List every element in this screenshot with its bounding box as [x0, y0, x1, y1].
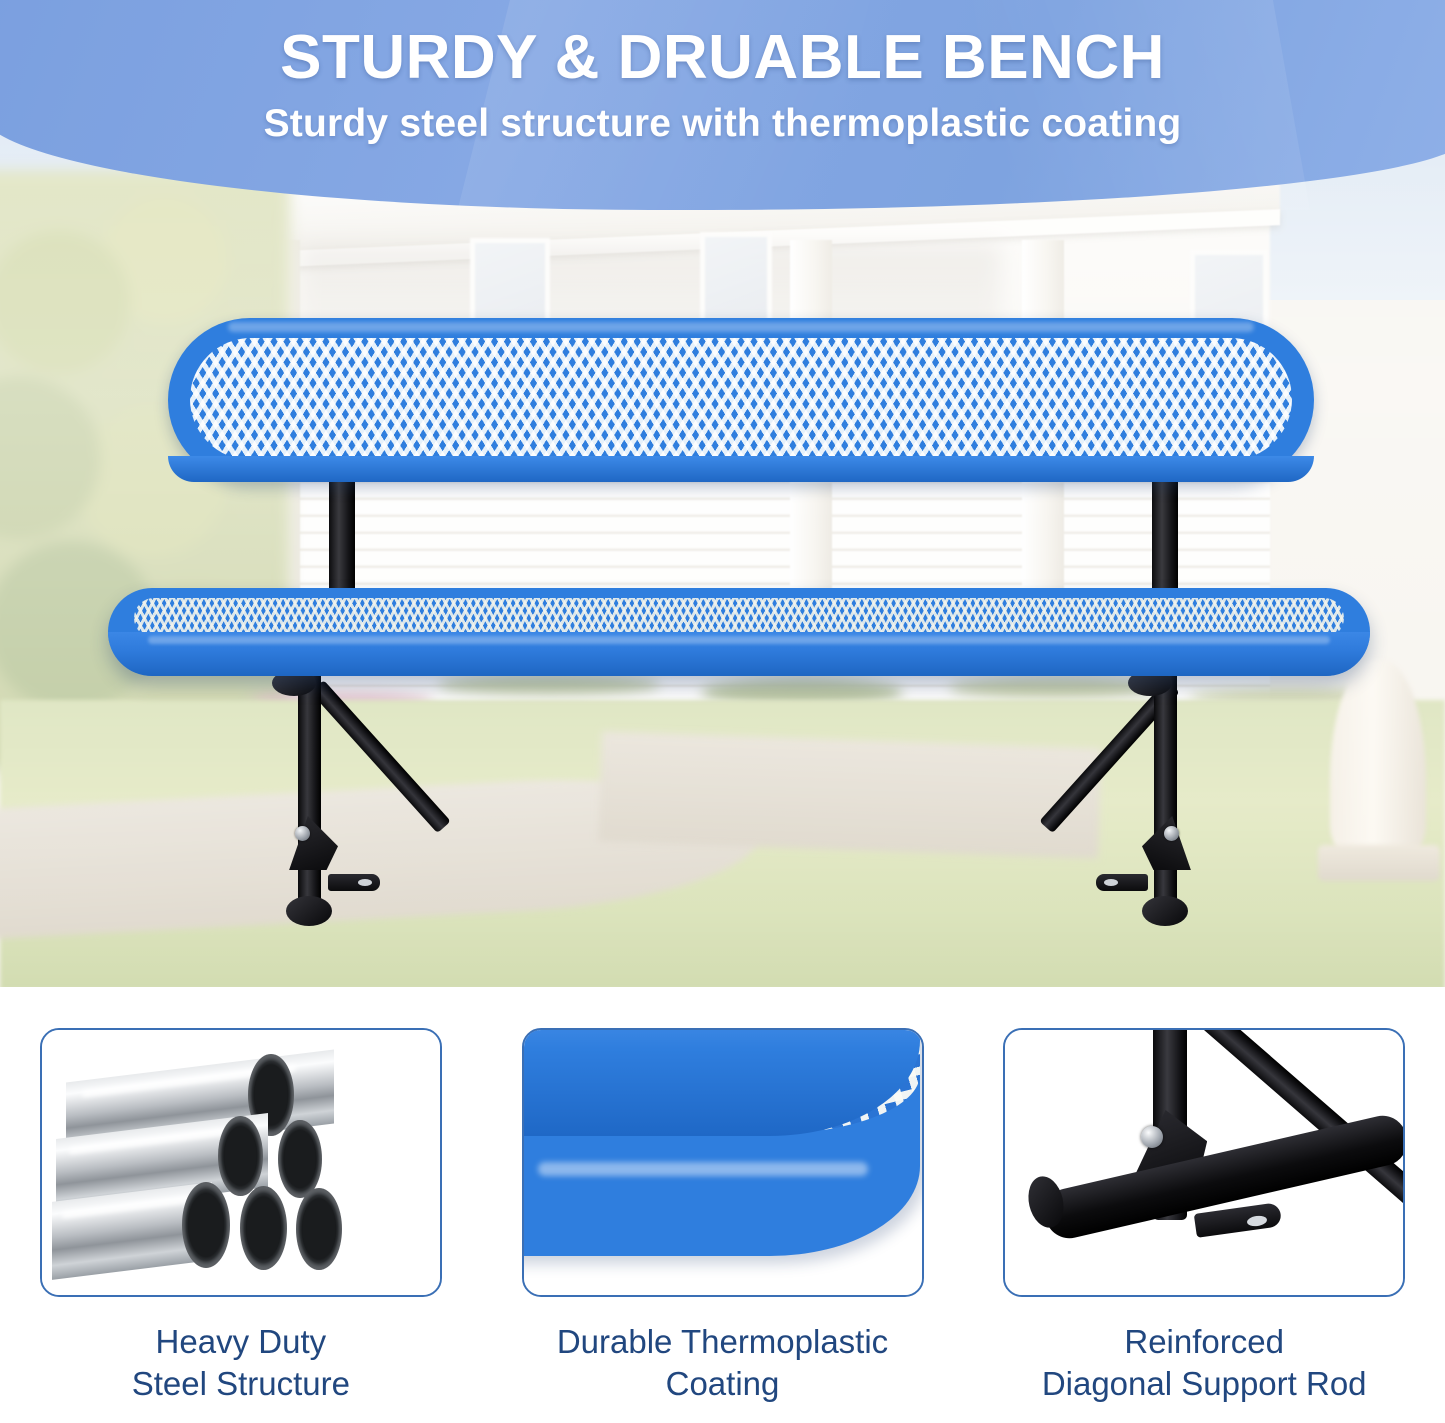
- banner-title: STURDY & DRUABLE BENCH: [0, 22, 1445, 93]
- seat-front-edge: [108, 632, 1370, 676]
- feature-caption-line: Coating: [557, 1363, 888, 1405]
- pipe-highlight: [61, 1196, 189, 1219]
- steel-pipes-photo: [42, 1030, 440, 1295]
- feature-caption-line: Diagonal Support Rod: [1042, 1363, 1367, 1405]
- header-banner: STURDY & DRUABLE BENCH Sturdy steel stru…: [0, 0, 1445, 260]
- mounting-plate: [328, 874, 380, 891]
- leg-gusset: [1142, 816, 1194, 870]
- leg-post: [1154, 668, 1177, 918]
- bench-backrest: [168, 318, 1314, 482]
- corner-gloss-highlight: [538, 1162, 868, 1176]
- feature-image-box: [40, 1028, 442, 1297]
- mounting-hole: [1104, 879, 1118, 886]
- feature-item: Heavy Duty Steel Structure: [0, 987, 482, 1423]
- bolt-icon: [295, 826, 310, 841]
- mounting-hole: [358, 879, 372, 886]
- backrest-bottom-lip: [168, 456, 1314, 482]
- pipe-opening: [240, 1186, 287, 1270]
- banner-subtitle: Sturdy steel structure with thermoplasti…: [0, 102, 1445, 146]
- backrest-post-left: [329, 478, 355, 596]
- bolt-icon: [1141, 1126, 1163, 1148]
- feature-item: Reinforced Diagonal Support Rod: [963, 987, 1445, 1423]
- feature-caption: Reinforced Diagonal Support Rod: [1042, 1321, 1367, 1404]
- leg-foot-cap: [286, 896, 332, 926]
- backrest-post-right: [1152, 478, 1178, 596]
- feature-caption: Durable Thermoplastic Coating: [557, 1321, 888, 1404]
- pipe-opening: [278, 1120, 322, 1198]
- feature-item: Durable Thermoplastic Coating: [482, 987, 964, 1423]
- backrest-highlight: [228, 322, 1254, 332]
- leg-foot-cap: [1142, 896, 1188, 926]
- feature-caption-line: Durable Thermoplastic: [557, 1321, 888, 1363]
- pipe-opening: [218, 1116, 263, 1196]
- thermoplastic-corner-photo: [524, 1030, 922, 1295]
- backrest-mesh: [190, 338, 1292, 460]
- feature-image-box: [522, 1028, 924, 1297]
- pipe-opening: [296, 1188, 342, 1270]
- leg-post: [298, 668, 321, 918]
- feature-caption-line: Reinforced: [1042, 1321, 1367, 1363]
- support-rod-joint-photo: [1005, 1030, 1403, 1295]
- leg-gusset: [286, 816, 338, 870]
- feature-caption-line: Heavy Duty: [132, 1321, 350, 1363]
- diagonal-support-rod: [310, 680, 451, 833]
- feature-caption-line: Steel Structure: [132, 1363, 350, 1405]
- seat-highlight: [148, 636, 1330, 644]
- mounting-plate: [1194, 1202, 1283, 1238]
- bolt-icon: [1164, 826, 1179, 841]
- bench-seat: [108, 588, 1370, 676]
- feature-image-box: [1003, 1028, 1405, 1297]
- feature-caption: Heavy Duty Steel Structure: [132, 1321, 350, 1404]
- pipe-opening: [182, 1182, 230, 1268]
- feature-panels: Heavy Duty Steel Structure Durable Therm…: [0, 987, 1445, 1423]
